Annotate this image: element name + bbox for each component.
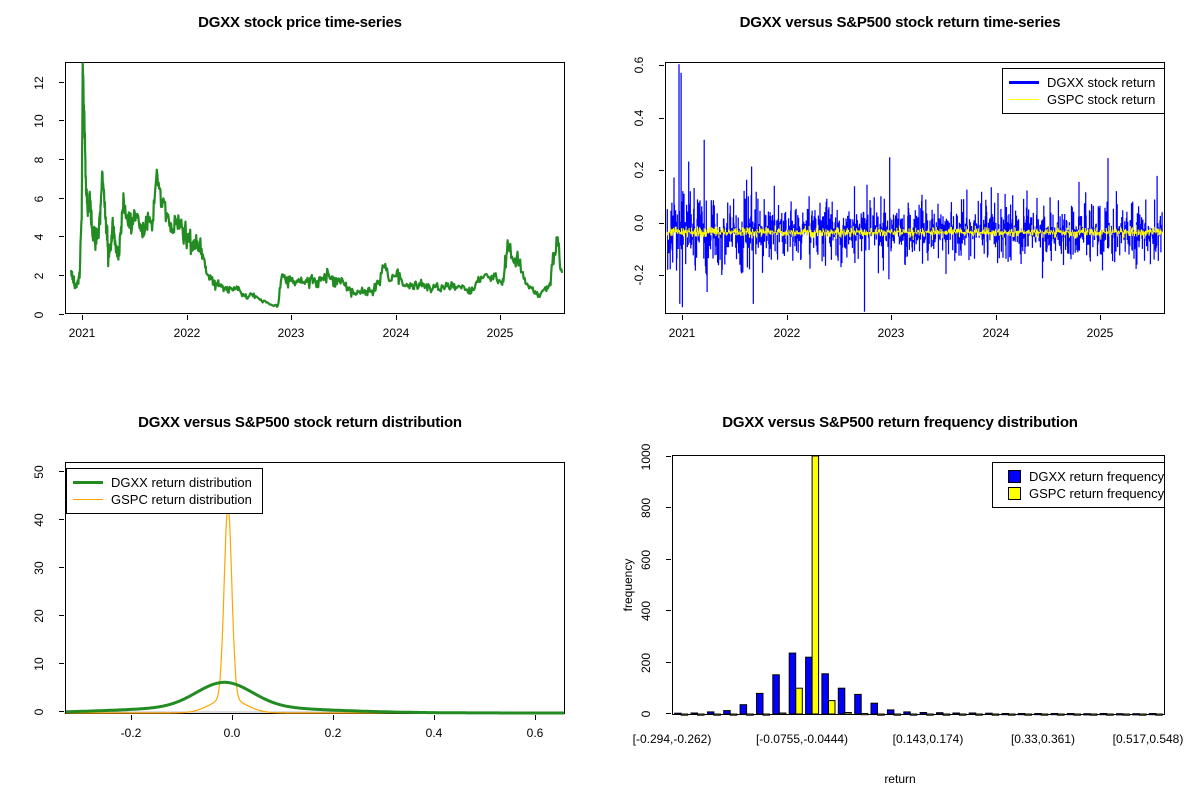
legend-label: DGXX return frequency (1029, 470, 1164, 483)
ytick-label: 0.0 (632, 202, 646, 244)
density-series-dgxx (66, 682, 564, 713)
histogram-bar (1009, 714, 1016, 715)
histogram-bar (730, 714, 737, 715)
xtick-label: [0.143,0.174) (868, 732, 988, 746)
panel-return-frequency: DGXX versus S&P500 return frequency dist… (600, 400, 1200, 800)
histogram-bar (1090, 714, 1097, 715)
xtick-label: [-0.294,-0.262) (610, 732, 734, 746)
histogram-bar (910, 714, 917, 715)
ytick-label: 0.2 (632, 149, 646, 191)
histogram-bar (992, 714, 999, 715)
histogram-bar (1133, 714, 1140, 715)
histogram-bar (894, 714, 901, 715)
panel-price-canvas (0, 0, 600, 400)
histogram-bar (763, 714, 770, 715)
panel-density-legend[interactable]: DGXX return distribution GSPC return dis… (66, 468, 263, 514)
histogram-bar (878, 714, 885, 715)
histogram-bar (887, 710, 894, 714)
ytick-label: 8 (32, 147, 46, 173)
histogram-bar (1025, 714, 1032, 715)
panel-histogram-legend[interactable]: DGXX return frequency GSPC return freque… (992, 462, 1165, 508)
plot-grid: DGXX stock price time-series 0 2 4 6 8 1… (0, 0, 1200, 800)
xtick-label: 0.2 (308, 726, 358, 740)
xtick-label: 0.6 (510, 726, 560, 740)
legend-item[interactable]: GSPC return frequency (999, 485, 1156, 502)
panel-price-timeseries: DGXX stock price time-series 0 2 4 6 8 1… (0, 0, 600, 400)
histogram-bar (681, 714, 688, 715)
legend-item[interactable]: DGXX return distribution (73, 474, 254, 491)
ytick-label: 200 (639, 642, 653, 684)
panel-density-canvas (0, 400, 600, 800)
ytick-label: 10 (32, 104, 46, 138)
xtick-label: 2021 (657, 326, 707, 340)
ytick-label: 50 (32, 455, 46, 489)
histogram-bar (969, 713, 976, 714)
histogram-bar (1084, 714, 1091, 715)
histogram-bar (1149, 714, 1156, 715)
histogram-bar (943, 714, 950, 715)
legend-swatch-dgxx (1008, 470, 1021, 483)
histogram-bar (1074, 714, 1081, 715)
ytick-label: 10 (32, 647, 46, 681)
ytick-label: 4 (32, 224, 46, 250)
legend-item[interactable]: GSPC return distribution (73, 491, 254, 508)
xtick-label: 2023 (266, 326, 316, 340)
panel-return-density: DGXX versus S&P500 stock return distribu… (0, 400, 600, 800)
histogram-bar (1067, 714, 1074, 715)
legend-item[interactable]: GSPC stock return (1009, 91, 1156, 108)
xtick-label: 2024 (971, 326, 1021, 340)
histogram-bar (779, 713, 786, 714)
xtick-label: [0.517,0.548) (1090, 732, 1200, 746)
panel-return-legend[interactable]: DGXX stock return GSPC stock return (1002, 68, 1165, 114)
xtick-label: 2024 (371, 326, 421, 340)
histogram-bar (714, 714, 721, 715)
ytick-label: 2 (32, 263, 46, 289)
panel-return-timeseries: DGXX versus S&P500 stock return time-ser… (600, 0, 1200, 400)
histogram-bar (986, 713, 993, 714)
histogram-bar (822, 674, 829, 714)
legend-label: GSPC stock return (1047, 93, 1155, 106)
histogram-bar (1117, 714, 1124, 715)
histogram-bar (796, 688, 803, 714)
ytick-label: 1000 (639, 432, 653, 482)
histogram-bar (1002, 714, 1009, 715)
histogram-bar (747, 714, 754, 715)
histogram-bar (855, 694, 862, 714)
ytick-label: 30 (32, 551, 46, 585)
histogram-bar (927, 714, 934, 715)
histogram-bar (976, 714, 983, 715)
ytick-label: 0 (639, 701, 653, 727)
xtick-label: [0.33,0.361) (987, 732, 1099, 746)
xtick-label: 2025 (1075, 326, 1125, 340)
xtick-label: 2023 (866, 326, 916, 340)
ytick-label: 12 (32, 66, 46, 100)
ytick-label: 0 (32, 302, 46, 328)
legend-item[interactable]: DGXX stock return (1009, 74, 1156, 91)
xtick-label: 2025 (475, 326, 525, 340)
ytick-label: 0.6 (632, 44, 646, 86)
legend-label: DGXX stock return (1047, 76, 1155, 89)
legend-line-dgxx (73, 481, 103, 484)
histogram-bar (1100, 714, 1107, 715)
xtick-label: [-0.0755,-0.0444) (730, 732, 874, 746)
legend-item[interactable]: DGXX return frequency (999, 468, 1156, 485)
legend-line-dgxx (1009, 81, 1039, 84)
legend-line-gspc (1009, 99, 1039, 100)
histogram-bar (740, 705, 747, 714)
histogram-y-axis-title: frequency (621, 545, 635, 625)
ytick-label: 6 (32, 186, 46, 212)
histogram-bar (773, 675, 780, 714)
ytick-label: 400 (639, 590, 653, 632)
histogram-bar (1107, 714, 1114, 715)
xtick-label: 0.0 (207, 726, 257, 740)
histogram-bar (861, 714, 868, 715)
legend-line-gspc (73, 499, 103, 500)
ytick-label: 0 (32, 699, 46, 725)
histogram-bar (757, 693, 764, 714)
histogram-bar (1123, 714, 1130, 715)
legend-label: GSPC return distribution (111, 493, 252, 506)
ytick-label: 800 (639, 487, 653, 529)
histogram-bar (845, 713, 852, 715)
histogram-bar (1058, 714, 1065, 715)
histogram-bar (920, 713, 927, 715)
ytick-label: 600 (639, 539, 653, 581)
histogram-x-axis-title: return (850, 772, 950, 786)
ytick-label: 0.4 (632, 97, 646, 139)
histogram-bar (675, 713, 682, 714)
legend-swatch-gspc (1008, 487, 1021, 500)
price-series-dgxx (71, 63, 562, 306)
histogram-bar (904, 712, 911, 714)
histogram-bar (871, 703, 878, 714)
legend-label: GSPC return frequency (1029, 487, 1164, 500)
xtick-label: 2021 (57, 326, 107, 340)
histogram-bar (829, 701, 836, 714)
histogram-bar (707, 712, 714, 714)
histogram-bar (937, 713, 944, 714)
histogram-bar (724, 711, 731, 714)
xtick-label: 0.4 (409, 726, 459, 740)
panel-return-canvas (600, 0, 1200, 400)
xtick-label: 2022 (162, 326, 212, 340)
histogram-bar (1156, 714, 1163, 715)
ytick-label: -0.2 (632, 254, 646, 296)
legend-label: DGXX return distribution (111, 476, 252, 489)
histogram-bar (806, 657, 813, 714)
ytick-label: 20 (32, 599, 46, 633)
xtick-label: -0.2 (106, 726, 156, 740)
histogram-bar (959, 714, 966, 715)
histogram-bar (698, 714, 705, 715)
ytick-label: 40 (32, 503, 46, 537)
histogram-bar (812, 456, 819, 714)
histogram-bar (1018, 714, 1025, 715)
histogram-bar (1140, 714, 1147, 715)
density-series-gspc (66, 506, 564, 713)
xtick-label: 2022 (762, 326, 812, 340)
histogram-bar (1035, 714, 1042, 715)
histogram-bar (1041, 714, 1048, 715)
histogram-bar (1051, 714, 1058, 715)
histogram-bar (953, 713, 960, 714)
histogram-bar (789, 653, 796, 714)
histogram-bar (838, 688, 845, 714)
histogram-bar (691, 713, 698, 714)
